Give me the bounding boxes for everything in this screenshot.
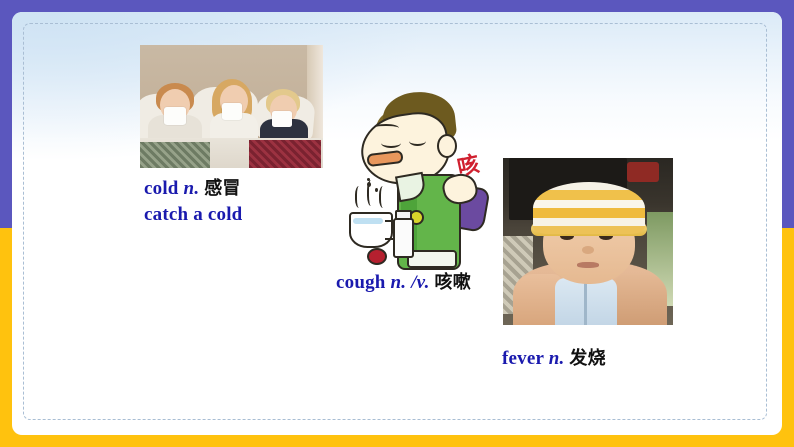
caption-cough-chinese: 咳嗽 <box>435 272 471 293</box>
steam-line-1 <box>355 186 365 208</box>
steam-line-3 <box>379 186 389 208</box>
caption-cough: cough n. /v. 咳嗽 <box>336 268 471 294</box>
slide-content: cold n. 感冒 catch a cold <box>12 12 782 435</box>
tissue-center <box>222 103 242 120</box>
caption-cold-pos: n. <box>184 178 200 199</box>
striped-knit-hat <box>533 182 645 234</box>
red-object <box>627 162 659 182</box>
baby-arm-right <box>615 274 667 325</box>
cartoon-eyebrow <box>373 124 399 132</box>
steam-line-2 <box>367 180 377 206</box>
tissue-left <box>164 107 186 125</box>
red-pill <box>367 248 387 265</box>
baby-mouth <box>577 262 599 268</box>
caption-cold-word: cold <box>144 178 179 199</box>
photo-baby-with-striped-knit-hat <box>503 158 673 325</box>
tea-liquid <box>353 218 383 224</box>
bib-seam <box>584 280 587 325</box>
slide-card: cold n. 感冒 catch a cold <box>12 12 782 435</box>
baby-nose <box>582 246 594 254</box>
slide-root: cold n. 感冒 catch a cold <box>0 0 794 447</box>
blanket-patterned-left <box>140 142 210 168</box>
cartoon-eye-left <box>381 138 401 148</box>
caption-cough-word: cough <box>336 272 386 293</box>
medicine-bottle <box>393 218 414 258</box>
caption-fever: fever n. 发烧 <box>502 344 606 370</box>
cartoon-jacket-hem <box>407 250 457 268</box>
caption-cold-chinese: 感冒 <box>204 178 240 199</box>
photo-three-people-sneezing-in-bed <box>140 45 323 168</box>
caption-fever-pos: n. <box>549 348 565 369</box>
tissue-right <box>272 111 292 127</box>
illustration-man-coughing: 咳 <box>345 90 500 275</box>
pyjama-pattern-right <box>249 140 321 168</box>
caption-catch-a-cold: catch a cold <box>144 204 242 226</box>
caption-cold: cold n. 感冒 <box>144 174 241 200</box>
cartoon-eye-right <box>409 136 426 146</box>
caption-fever-chinese: 发烧 <box>569 348 605 369</box>
caption-fever-word: fever <box>502 348 544 369</box>
caption-cough-pos: n. /v. <box>391 272 430 293</box>
